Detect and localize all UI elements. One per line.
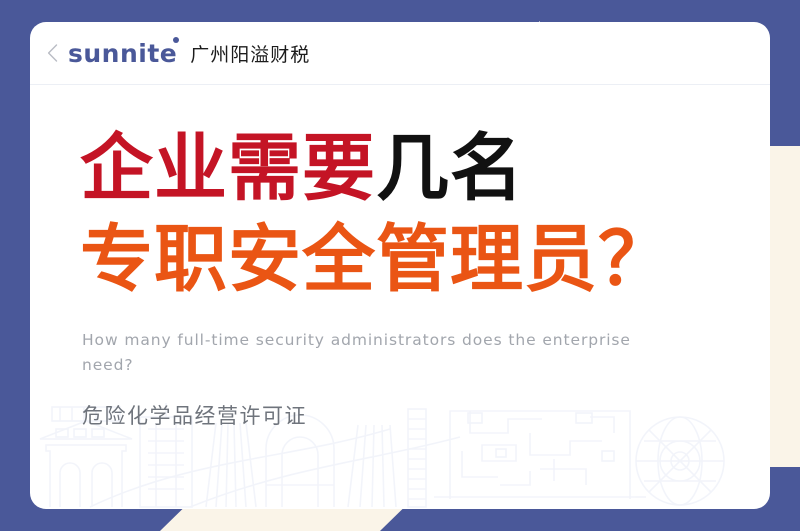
back-icon[interactable] (44, 42, 60, 64)
hero-content: 企业需要几名 专职安全管理员？ How many full-time secur… (30, 84, 770, 430)
content-card: sunnite 广州阳溢财税 企业需要几名 专职安全管理员？ How many … (30, 22, 770, 509)
subtitle-chinese: 危险化学品经营许可证 (30, 400, 770, 430)
brand-logo: sunnite (68, 41, 177, 66)
subtitle-english: How many full-time security administrato… (30, 328, 642, 378)
card-header: sunnite 广州阳溢财税 (30, 22, 770, 85)
headline-orange-text: 专职安全管理员？ (80, 217, 672, 302)
poster-canvas: sunnite 广州阳溢财税 企业需要几名 专职安全管理员？ How many … (0, 0, 800, 531)
brand-dot-icon (173, 37, 179, 43)
brand-lockup[interactable]: sunnite 广州阳溢财税 (68, 40, 310, 67)
headline-line-1: 企业需要几名 (30, 132, 770, 205)
headline-black-text: 几名 (376, 126, 524, 211)
headline-line-2: 专职安全管理员？ (30, 223, 770, 296)
headline-red-text: 企业需要 (80, 126, 376, 211)
brand-logo-text: sunnite (68, 39, 177, 68)
brand-name-cn: 广州阳溢财税 (190, 40, 310, 67)
